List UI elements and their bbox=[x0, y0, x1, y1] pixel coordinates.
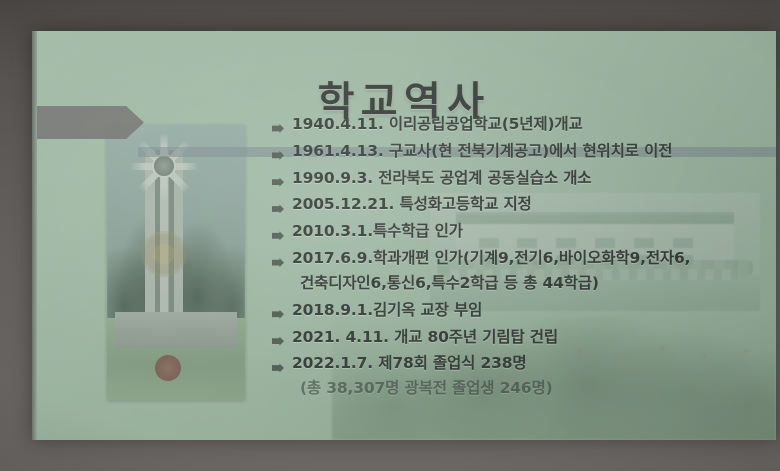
arrow-bullet-icon bbox=[272, 204, 284, 213]
tower-pedestal bbox=[115, 312, 236, 348]
pedestal-plaque bbox=[155, 355, 181, 381]
list-item: 2005.12.21. 특성화고등학교 지정 bbox=[272, 195, 772, 215]
school-emblem-icon bbox=[152, 154, 176, 178]
list-item-label: 2018.9.1.김기옥 교장 부임 bbox=[292, 301, 482, 321]
list-item: 2022.1.7. 제78회 졸업식 238명 bbox=[272, 354, 772, 374]
footnote-row: (총 38,307명 광복전 졸업생 246명) bbox=[272, 379, 772, 399]
list-item: 1990.9.3. 전라북도 공업계 공동실습소 개소 bbox=[272, 169, 772, 189]
presentation-slide: 학교역사 1940.4.11. 이리공립공업학교(5년제)개교 1961. bbox=[32, 31, 776, 440]
arrow-bullet-icon bbox=[272, 310, 284, 319]
gear-icon bbox=[144, 234, 184, 274]
list-item: 1961.4.13. 구교사(현 전북기계공고)에서 현위치로 이전 bbox=[272, 142, 772, 162]
footnote-label: (총 38,307명 광복전 졸업생 246명) bbox=[292, 379, 553, 399]
projection-wall: 학교역사 1940.4.11. 이리공립공업학교(5년제)개교 1961. bbox=[0, 0, 780, 471]
arrow-bullet-icon bbox=[272, 231, 284, 240]
list-item-label: 1990.9.3. 전라북도 공업계 공동실습소 개소 bbox=[292, 169, 591, 189]
list-item: 1940.4.11. 이리공립공업학교(5년제)개교 bbox=[272, 115, 772, 135]
arrow-bullet-icon bbox=[272, 337, 284, 346]
list-item-label: 2022.1.7. 제78회 졸업식 238명 bbox=[292, 354, 526, 374]
list-item-continuation: 건축디자인6,통신6,특수2학급 등 총 44학급) bbox=[272, 274, 772, 294]
list-item-label: 2017.6.9.학과개편 인가(기계9,전기6,바이오화학9,전자6, bbox=[292, 249, 690, 269]
list-item: 2010.3.1.특수학급 인가 bbox=[272, 222, 772, 242]
arrow-bullet-icon bbox=[272, 363, 284, 372]
history-list: 1940.4.11. 이리공립공업학교(5년제)개교 1961.4.13. 구교… bbox=[272, 115, 772, 406]
list-item-label: 2010.3.1.특수학급 인가 bbox=[292, 222, 463, 242]
list-item-label: 1940.4.11. 이리공립공업학교(5년제)개교 bbox=[292, 115, 583, 135]
list-item-label: 1961.4.13. 구교사(현 전북기계공고)에서 현위치로 이전 bbox=[292, 142, 672, 162]
arrow-bullet-icon bbox=[272, 178, 284, 187]
list-item: 2021. 4.11. 개교 80주년 기림탑 건립 bbox=[272, 328, 772, 348]
arrow-bullet-icon bbox=[272, 151, 284, 160]
arrow-bullet-icon bbox=[272, 124, 284, 133]
list-item: 2017.6.9.학과개편 인가(기계9,전기6,바이오화학9,전자6, bbox=[272, 249, 772, 269]
memorial-tower-photo bbox=[107, 125, 245, 400]
arrow-bullet-icon bbox=[272, 258, 284, 267]
list-item-label: 2005.12.21. 특성화고등학교 지정 bbox=[292, 195, 532, 215]
list-item-label-line2: 건축디자인6,통신6,특수2학급 등 총 44학급) bbox=[292, 274, 599, 294]
list-item: 2018.9.1.김기옥 교장 부임 bbox=[272, 301, 772, 321]
list-item-label: 2021. 4.11. 개교 80주년 기림탑 건립 bbox=[292, 328, 558, 348]
